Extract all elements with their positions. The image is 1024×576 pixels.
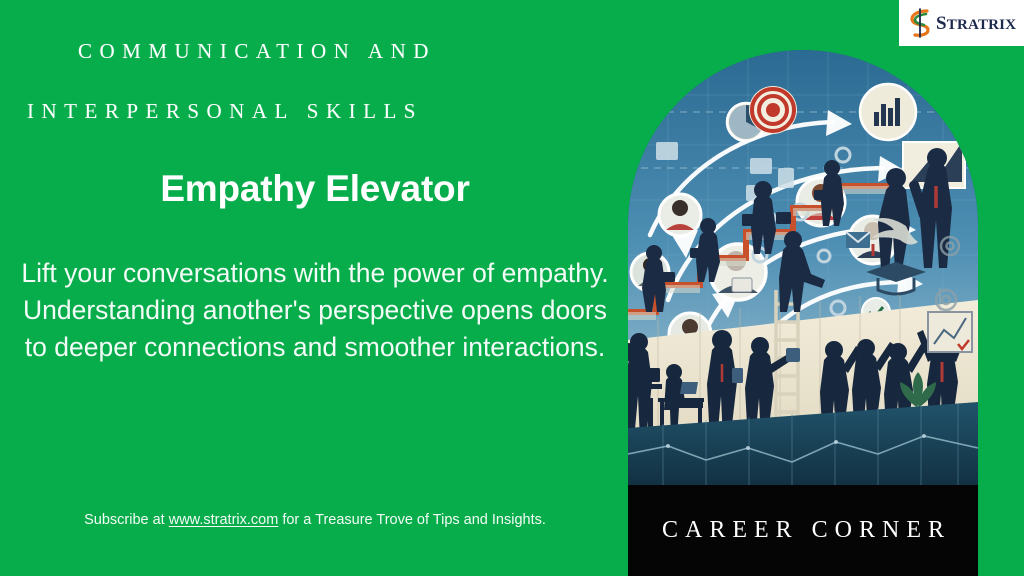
subscribe-footer: Subscribe at www.stratrix.com for a Trea…	[0, 512, 630, 528]
eyebrow-line-2: INTERPERSONAL SKILLS	[27, 96, 587, 126]
stratrix-website-link[interactable]: www.stratrix.com	[169, 512, 279, 528]
logo-word-rest: TRATRIX	[947, 17, 1016, 33]
stratrix-wordmark: STRATRIX	[936, 14, 1016, 33]
stratrix-logo[interactable]: STRATRIX	[899, 0, 1024, 46]
career-corner-banner: CAREER CORNER	[628, 485, 978, 576]
page-title: Empathy Elevator	[0, 168, 630, 210]
logo-word-first: S	[936, 13, 947, 34]
slide-canvas: COMMUNICATION AND INTERPERSONAL SKILLS S…	[0, 0, 1024, 576]
stratrix-swirl-mark	[907, 8, 933, 38]
eyebrow-line-1: COMMUNICATION AND	[78, 39, 436, 63]
footer-suffix: for a Treasure Trove of Tips and Insight…	[278, 512, 546, 528]
career-growth-illustration	[628, 50, 978, 485]
banner-caption: CAREER CORNER	[655, 517, 951, 544]
illustration-artwork	[628, 50, 978, 485]
eyebrow-heading: COMMUNICATION AND INTERPERSONAL SKILLS	[27, 6, 587, 186]
footer-prefix: Subscribe at	[84, 512, 169, 528]
body-paragraph: Lift your conversations with the power o…	[18, 255, 612, 366]
